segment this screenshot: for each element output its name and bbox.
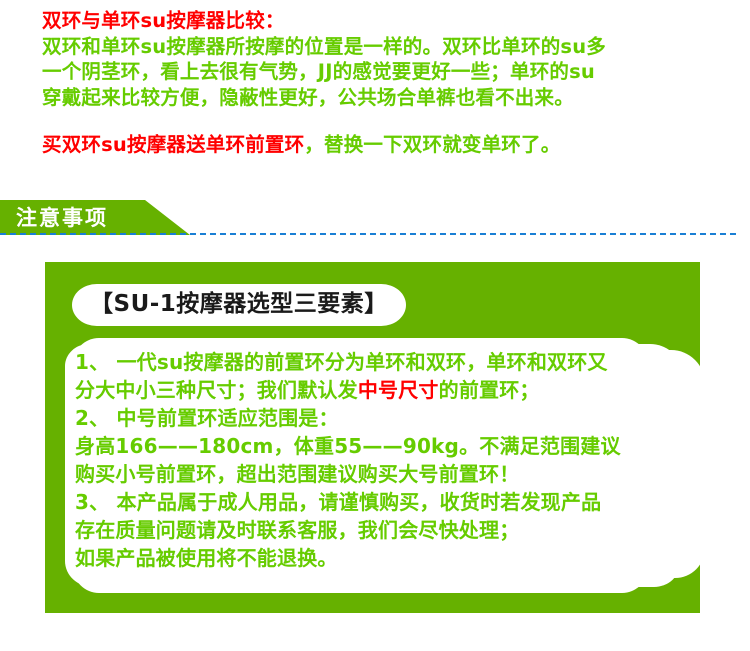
spec-line: 存在质量问题请及时联系客服，我们会尽快处理； bbox=[75, 516, 700, 544]
spec-line-pre: 3、 本产品属于成人用品，请谨慎购买，收货时若发现产品 bbox=[75, 490, 601, 514]
spec-card: 【SU-1按摩器选型三要素】 1、 一代su按摩器的前置环分为单环和双环，单环和… bbox=[45, 262, 700, 613]
spec-line-pre: 1、 一代su按摩器的前置环分为单环和双环，单环和双环又 bbox=[75, 350, 608, 374]
notice-banner-section: 注意事项 bbox=[0, 200, 750, 240]
intro-body-line-2: 一个阴茎环，看上去很有气势，JJ的感觉要更好一些；单环的su bbox=[42, 59, 712, 85]
intro-body-line-3: 穿戴起来比较方便，隐蔽性更好，公共场合单裤也看不出来。 bbox=[42, 85, 712, 111]
spec-line: 如果产品被使用将不能退换。 bbox=[75, 544, 700, 572]
spec-body-lines: 1、 一代su按摩器的前置环分为单环和双环，单环和双环又 分大中小三种尺寸；我们… bbox=[75, 348, 700, 572]
spec-line: 3、 本产品属于成人用品，请谨慎购买，收货时若发现产品 bbox=[75, 488, 700, 516]
spec-line: 购买小号前置环，超出范围建议购买大号前置环！ bbox=[75, 460, 700, 488]
notice-banner-label: 注意事项 bbox=[16, 203, 108, 233]
spec-line: 1、 一代su按摩器的前置环分为单环和双环，单环和双环又 bbox=[75, 348, 700, 376]
spec-line-highlight: 中号尺寸 bbox=[358, 378, 439, 402]
spec-line: 身高166——180cm，体重55——90kg。不满足范围建议 bbox=[75, 432, 700, 460]
notice-divider-dashed-line bbox=[0, 233, 736, 235]
promo-line: 买双环su按摩器送单环前置环，替换一下双环就变单环了。 bbox=[42, 132, 712, 158]
intro-heading: 双环与单环su按摩器比较： bbox=[42, 8, 712, 34]
spec-line: 2、 中号前置环适应范围是： bbox=[75, 404, 700, 432]
spec-line-pre: 存在质量问题请及时联系客服，我们会尽快处理； bbox=[75, 518, 519, 542]
spec-line-pre: 身高166——180cm，体重55——90kg。不满足范围建议 bbox=[75, 434, 621, 458]
promo-note-text: ，替换一下双环就变单环了。 bbox=[304, 133, 560, 156]
spec-line-pre: 购买小号前置环，超出范围建议购买大号前置环！ bbox=[75, 462, 519, 486]
intro-spacer bbox=[42, 110, 712, 132]
intro-copy-block: 双环与单环su按摩器比较： 双环和单环su按摩器所按摩的位置是一样的。双环比单环… bbox=[42, 8, 712, 158]
spec-title-pill: 【SU-1按摩器选型三要素】 bbox=[72, 284, 406, 326]
spec-line: 分大中小三种尺寸；我们默认发中号尺寸的前置环； bbox=[75, 376, 700, 404]
intro-body-line-1: 双环和单环su按摩器所按摩的位置是一样的。双环比单环的su多 bbox=[42, 34, 712, 60]
promo-offer-text: 买双环su按摩器送单环前置环 bbox=[42, 133, 304, 156]
spec-line-pre: 2、 中号前置环适应范围是： bbox=[75, 406, 339, 430]
spec-title-text: 【SU-1按摩器选型三要素】 bbox=[90, 289, 388, 319]
spec-line-post: 的前置环； bbox=[439, 378, 540, 402]
spec-line-pre: 分大中小三种尺寸；我们默认发 bbox=[75, 378, 358, 402]
spec-line-pre: 如果产品被使用将不能退换。 bbox=[75, 546, 338, 570]
